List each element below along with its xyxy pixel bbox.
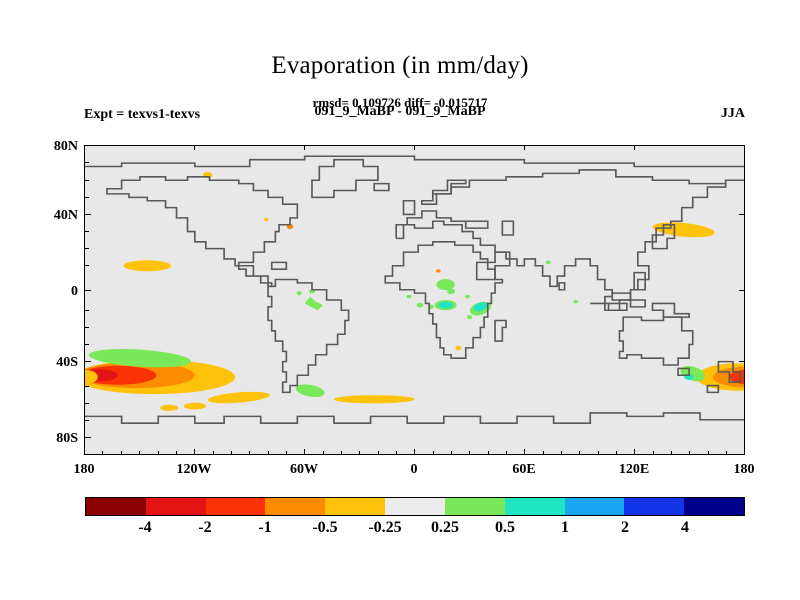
xtick-mark: [359, 451, 360, 455]
colorbar-label-025: 0.25: [415, 519, 475, 537]
coastline-british-isles: [404, 201, 415, 215]
colorbar-segment-1-05: [265, 498, 325, 515]
xtick-mark: [414, 449, 415, 455]
xtick-mark: [598, 451, 599, 455]
colorbar[interactable]: [85, 497, 745, 516]
ytick-mark: [84, 361, 91, 362]
colorbar-label--2: -2: [175, 519, 235, 537]
colorbar-label-2: 2: [595, 519, 655, 537]
ytick-mark: [84, 327, 89, 328]
contour-amazon-green: [305, 297, 323, 311]
ytick-mark: [84, 344, 89, 345]
xtick-mark: [433, 451, 434, 455]
ytick-mark-right: [739, 214, 745, 215]
xtick-mark-top: [304, 145, 305, 150]
page-title: Evaporation (in mm/day): [0, 52, 800, 80]
xtick-mark: [744, 449, 745, 455]
xtick-mark: [286, 451, 287, 455]
colorbar-label--1: -1: [235, 519, 295, 537]
contour-sahel-green: [436, 279, 454, 290]
xtick-mark: [488, 451, 489, 455]
coastline-sri-lanka: [559, 283, 564, 290]
ytick-mark: [84, 214, 91, 215]
xtick-label-180w: 180: [44, 462, 124, 478]
xtick-mark: [378, 451, 379, 455]
contour-antarctic-coast-orange-2: [160, 405, 178, 411]
coastline-arabia: [477, 252, 510, 279]
contour-north-pacific-japan: [652, 220, 715, 240]
xtick-mark: [213, 451, 214, 455]
ytick-mark: [84, 403, 89, 404]
ytick-mark: [84, 162, 89, 163]
coastline-borneo: [612, 293, 645, 307]
colorbar-label--4: -4: [115, 519, 175, 537]
ytick-mark: [84, 248, 89, 249]
season-label: JJA: [0, 106, 745, 122]
xtick-mark: [708, 451, 709, 455]
xtick-mark: [249, 451, 250, 455]
xtick-mark-top: [194, 145, 195, 150]
contour-antarctic-coast-orange: [184, 403, 206, 410]
xtick-mark: [102, 451, 103, 455]
ytick-mark: [84, 231, 89, 232]
contour-tanzania-green: [467, 315, 472, 319]
xtick-mark: [341, 451, 342, 455]
xtick-mark: [616, 451, 617, 455]
coastline-madagascar: [495, 321, 506, 342]
xtick-mark: [176, 451, 177, 455]
xtick-mark: [84, 449, 85, 455]
contour-sudan-green: [465, 295, 470, 299]
contour-sahara-orange: [436, 269, 441, 272]
coastline-iceland: [374, 184, 389, 191]
ytick-mark: [84, 180, 89, 181]
colorbar-label-4: 4: [655, 519, 715, 537]
ytick-mark: [84, 290, 91, 291]
colorbar-segment-4-2: [146, 498, 206, 515]
colorbar-segment-1-2: [565, 498, 625, 515]
colorbar-segment-05-025: [325, 498, 385, 515]
colorbar-segment-2-4: [624, 498, 684, 515]
ytick-mark: [84, 437, 91, 438]
ytick-mark-right: [739, 290, 745, 291]
xtick-mark-top: [414, 145, 415, 150]
xtick-mark: [579, 451, 580, 455]
coastline-australia: [620, 317, 693, 365]
xtick-mark: [506, 451, 507, 455]
xtick-mark: [469, 451, 470, 455]
colorbar-segment-gt-4: [684, 498, 744, 515]
contour-gulf-guinea-green: [417, 303, 424, 308]
contour-southern-africa-orange: [456, 346, 462, 350]
coastline-indonesia: [590, 303, 627, 310]
map-plot-area: [84, 145, 745, 455]
xtick-mark: [561, 451, 562, 455]
ytick-mark: [84, 386, 89, 387]
ytick-mark: [84, 310, 89, 311]
xtick-mark: [139, 451, 140, 455]
coastline-new-guinea: [652, 303, 689, 317]
coastline-philippines: [634, 273, 645, 290]
xtick-mark: [323, 451, 324, 455]
xtick-mark-top: [524, 145, 525, 150]
coastline-scandinavia: [422, 180, 466, 204]
xtick-mark: [158, 451, 159, 455]
xtick-mark: [671, 451, 672, 455]
contour-great-lakes-dot: [264, 218, 268, 221]
contour-sahel-green-2: [447, 289, 455, 294]
contour-southern-ocean-positive: [295, 382, 326, 399]
xtick-mark: [524, 449, 525, 455]
coastline-antarctica: [85, 413, 744, 423]
xtick-mark: [543, 451, 544, 455]
colorbar-segment-05-1: [505, 498, 565, 515]
ytick-mark: [84, 265, 89, 266]
contour-venezuela-green: [297, 291, 302, 295]
contour-southern-ocean-atlantic: [334, 395, 415, 403]
coastline-africa: [385, 242, 502, 358]
contour-indian-ocean-green: [573, 300, 577, 303]
colorbar-label--05: -0.5: [295, 519, 355, 537]
coastline-cuba: [272, 262, 287, 269]
ytick-label-80s: 80S: [8, 431, 78, 447]
xtick-mark: [634, 449, 635, 455]
ytick-label-0: 0: [8, 284, 78, 300]
ytick-label-80n: 80N: [8, 139, 78, 155]
coastline-caspian-sea: [502, 221, 513, 235]
figure-canvas: Evaporation (in mm/day) rmsd= 0.109726 d…: [0, 0, 800, 600]
ytick-mark: [84, 145, 91, 146]
contour-west-africa-green: [407, 295, 412, 299]
colorbar-label--025: -0.25: [355, 519, 415, 537]
ytick-mark: [84, 197, 89, 198]
colorbar-segment-2-1: [206, 498, 266, 515]
xtick-mark: [726, 451, 727, 455]
coastline-arctic-edge: [85, 156, 744, 166]
xtick-mark: [121, 451, 122, 455]
xtick-label-120e: 120E: [594, 462, 674, 478]
colorbar-segment-025-05: [445, 498, 505, 515]
xtick-mark: [451, 451, 452, 455]
ytick-mark: [84, 420, 89, 421]
xtick-mark: [653, 451, 654, 455]
xtick-mark: [689, 451, 690, 455]
xtick-label-60e: 60E: [484, 462, 564, 478]
ytick-label-40n: 40N: [8, 208, 78, 224]
coastline-greenland: [312, 160, 378, 198]
coastline-black-sea: [466, 221, 488, 228]
colorbar-label-1: 1: [535, 519, 595, 537]
coastline-eurasia-north: [433, 170, 726, 194]
xtick-mark: [194, 449, 195, 455]
xtick-mark-top: [634, 145, 635, 150]
ytick-label-40s: 40S: [8, 355, 78, 371]
xtick-mark: [231, 451, 232, 455]
contour-congo-cyan: [438, 302, 453, 309]
contour-central-pacific: [123, 260, 171, 271]
contour-india-green: [546, 260, 551, 264]
xtick-mark: [268, 451, 269, 455]
xtick-mark: [304, 449, 305, 455]
contour-southern-ocean-pacific: [207, 390, 270, 405]
map-canvas: [85, 146, 744, 454]
ytick-mark-right: [739, 361, 745, 362]
xtick-label-180e: 180: [704, 462, 784, 478]
xtick-label-120w: 120W: [154, 462, 234, 478]
xtick-label-60w: 60W: [264, 462, 344, 478]
colorbar-segment-neutral: [385, 498, 445, 515]
colorbar-label-05: 0.5: [475, 519, 535, 537]
coastline-south-america: [268, 279, 349, 392]
xtick-label-0: 0: [374, 462, 454, 478]
xtick-mark: [396, 451, 397, 455]
colorbar-segment-lt-4: [86, 498, 146, 515]
